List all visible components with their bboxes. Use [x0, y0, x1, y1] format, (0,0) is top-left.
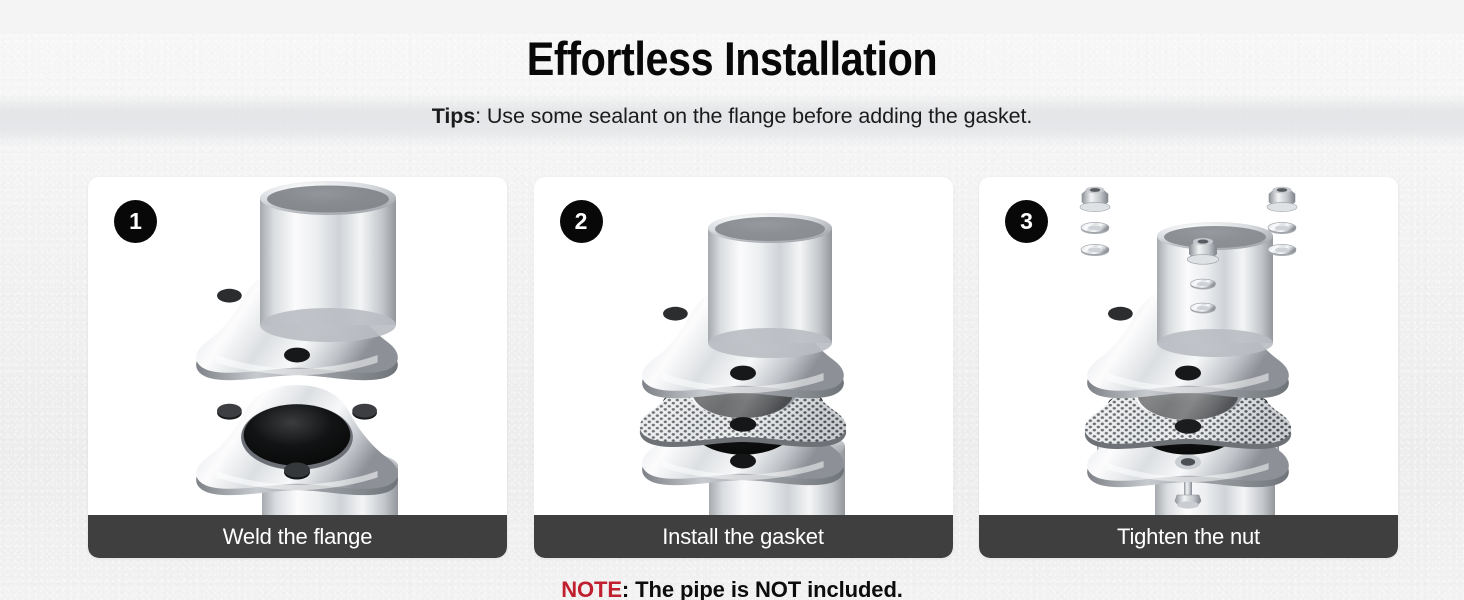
step-card-3[interactable]: 3 — [979, 177, 1398, 558]
upper-pipe — [1157, 222, 1273, 357]
step-number-badge-1: 1 — [114, 200, 157, 243]
note-line: NOTE: The pipe is NOT included. — [0, 577, 1464, 600]
step-caption-1: Weld the flange — [88, 515, 507, 558]
note-keyword: NOTE — [561, 577, 622, 600]
lock-washer — [1268, 222, 1296, 234]
steps-container: 1 — [88, 177, 1398, 558]
hex-flange-nut — [1080, 187, 1110, 212]
note-separator: : — [622, 577, 635, 600]
step-caption-2: Install the gasket — [534, 515, 953, 558]
infographic-root: Effortless Installation Tips: Use some s… — [0, 34, 1464, 129]
lock-washer — [1081, 222, 1109, 234]
tips-separator: : — [475, 104, 487, 128]
upper-pipe — [260, 181, 396, 342]
upper-pipe — [708, 213, 832, 358]
step-number-badge-3: 3 — [1005, 200, 1048, 243]
step-card-2[interactable]: 2 — [534, 177, 953, 558]
step-number-badge-2: 2 — [560, 200, 603, 243]
tips-line: Tips: Use some sealant on the flange bef… — [0, 104, 1464, 129]
lower-triangular-flange — [196, 385, 398, 495]
note-text: The pipe is NOT included. — [635, 577, 903, 600]
page-title: Effortless Installation — [88, 34, 1376, 85]
step-card-1[interactable]: 1 — [88, 177, 507, 558]
step-caption-3: Tighten the nut — [979, 515, 1398, 558]
hex-flange-nut — [1267, 187, 1297, 212]
tips-label: Tips — [432, 104, 475, 128]
flat-washer — [1268, 244, 1296, 256]
flat-washer — [1081, 244, 1109, 256]
tips-text: Use some sealant on the flange before ad… — [487, 104, 1032, 128]
